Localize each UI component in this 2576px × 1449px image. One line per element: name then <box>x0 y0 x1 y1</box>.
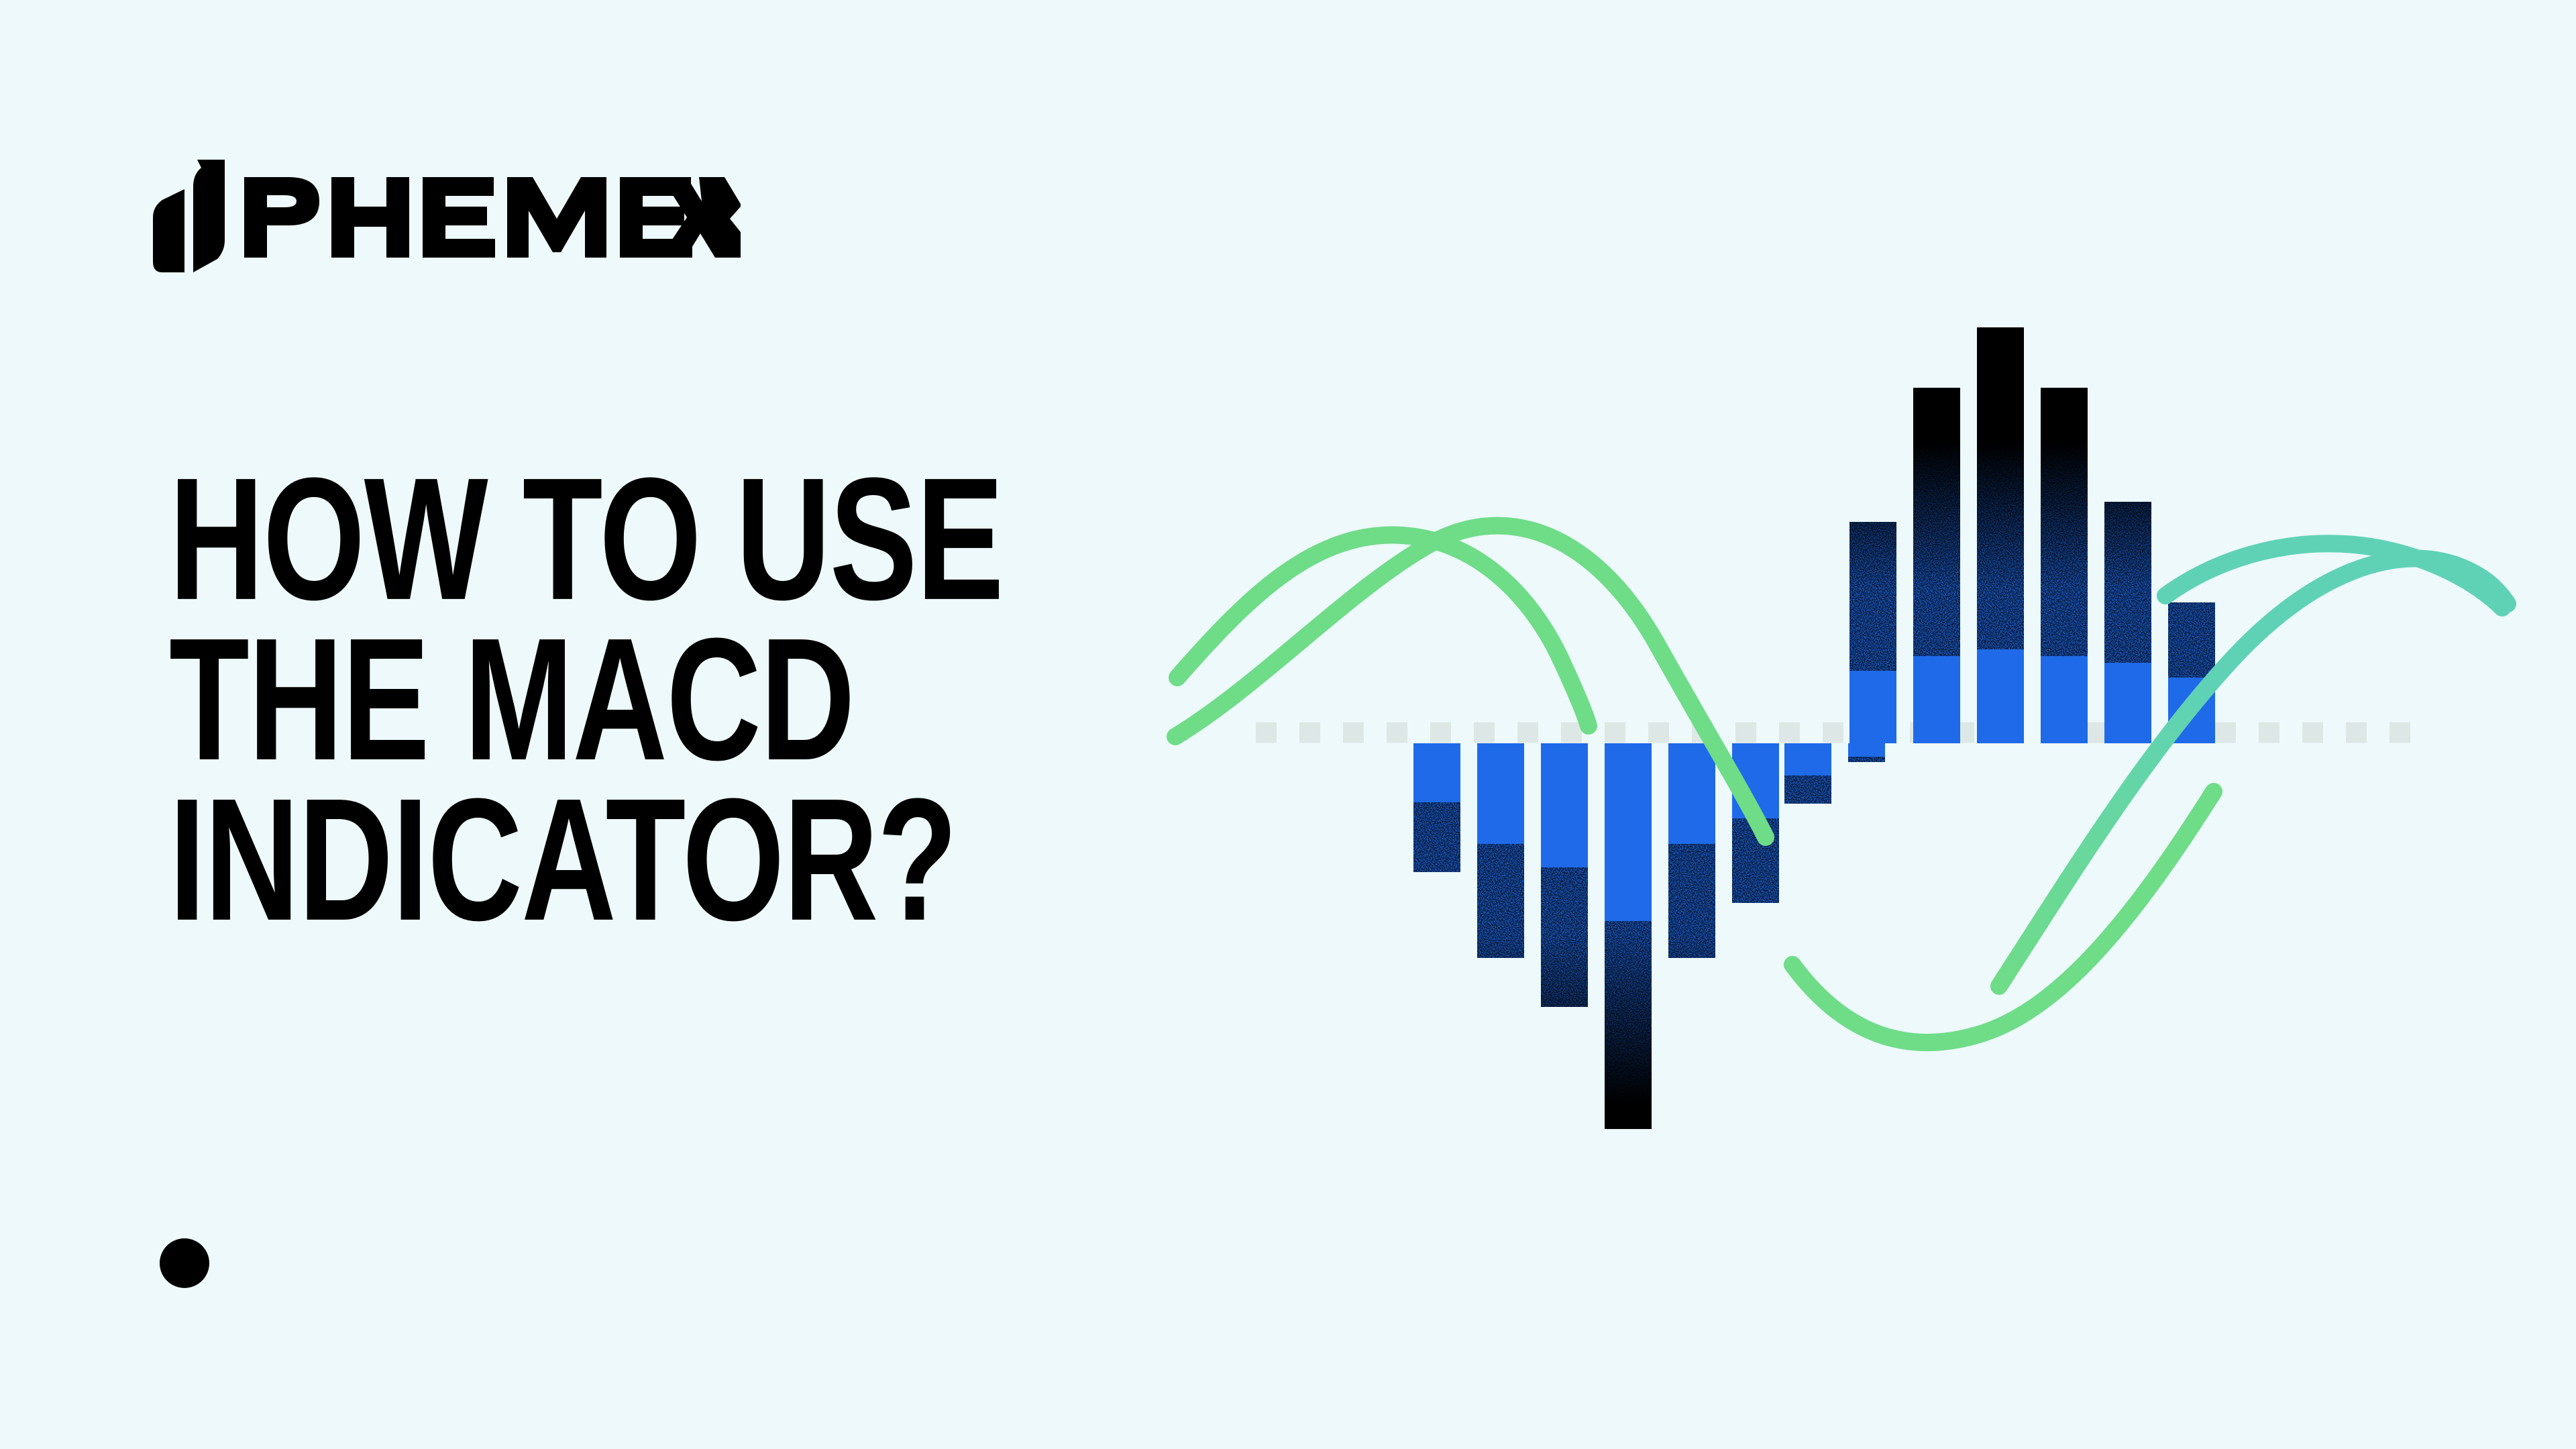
phemex-slash-mark-icon <box>153 160 235 272</box>
macd-line-rise <box>1999 559 2508 986</box>
histogram-positive-bars-blue-solid <box>1849 649 2215 743</box>
histogram-positive-bars-blue-fade <box>1849 327 2215 743</box>
histogram-negative-bars-blue-solid <box>1413 743 1885 921</box>
signal-line-2 <box>1175 526 1766 837</box>
histogram-negative-bars <box>1413 743 1885 1129</box>
histogram-positive-bars <box>1849 327 2215 743</box>
phemex-wordmark <box>244 177 741 258</box>
macd-line-dip <box>1792 792 2214 1042</box>
page-title: HOW TO USE THE MACD INDICATOR? <box>169 449 1175 930</box>
headline-line-3: INDICATOR? <box>169 770 1020 950</box>
macd-line-top <box>2165 543 2502 608</box>
signal-line-1 <box>1177 535 1589 726</box>
bullet-dot <box>160 1238 209 1288</box>
phemex-logo <box>153 160 741 274</box>
poster-canvas: HOW TO USE THE MACD INDICATOR? <box>0 0 2576 1449</box>
histogram-negative-bars-blue-fade <box>1413 743 1885 1129</box>
